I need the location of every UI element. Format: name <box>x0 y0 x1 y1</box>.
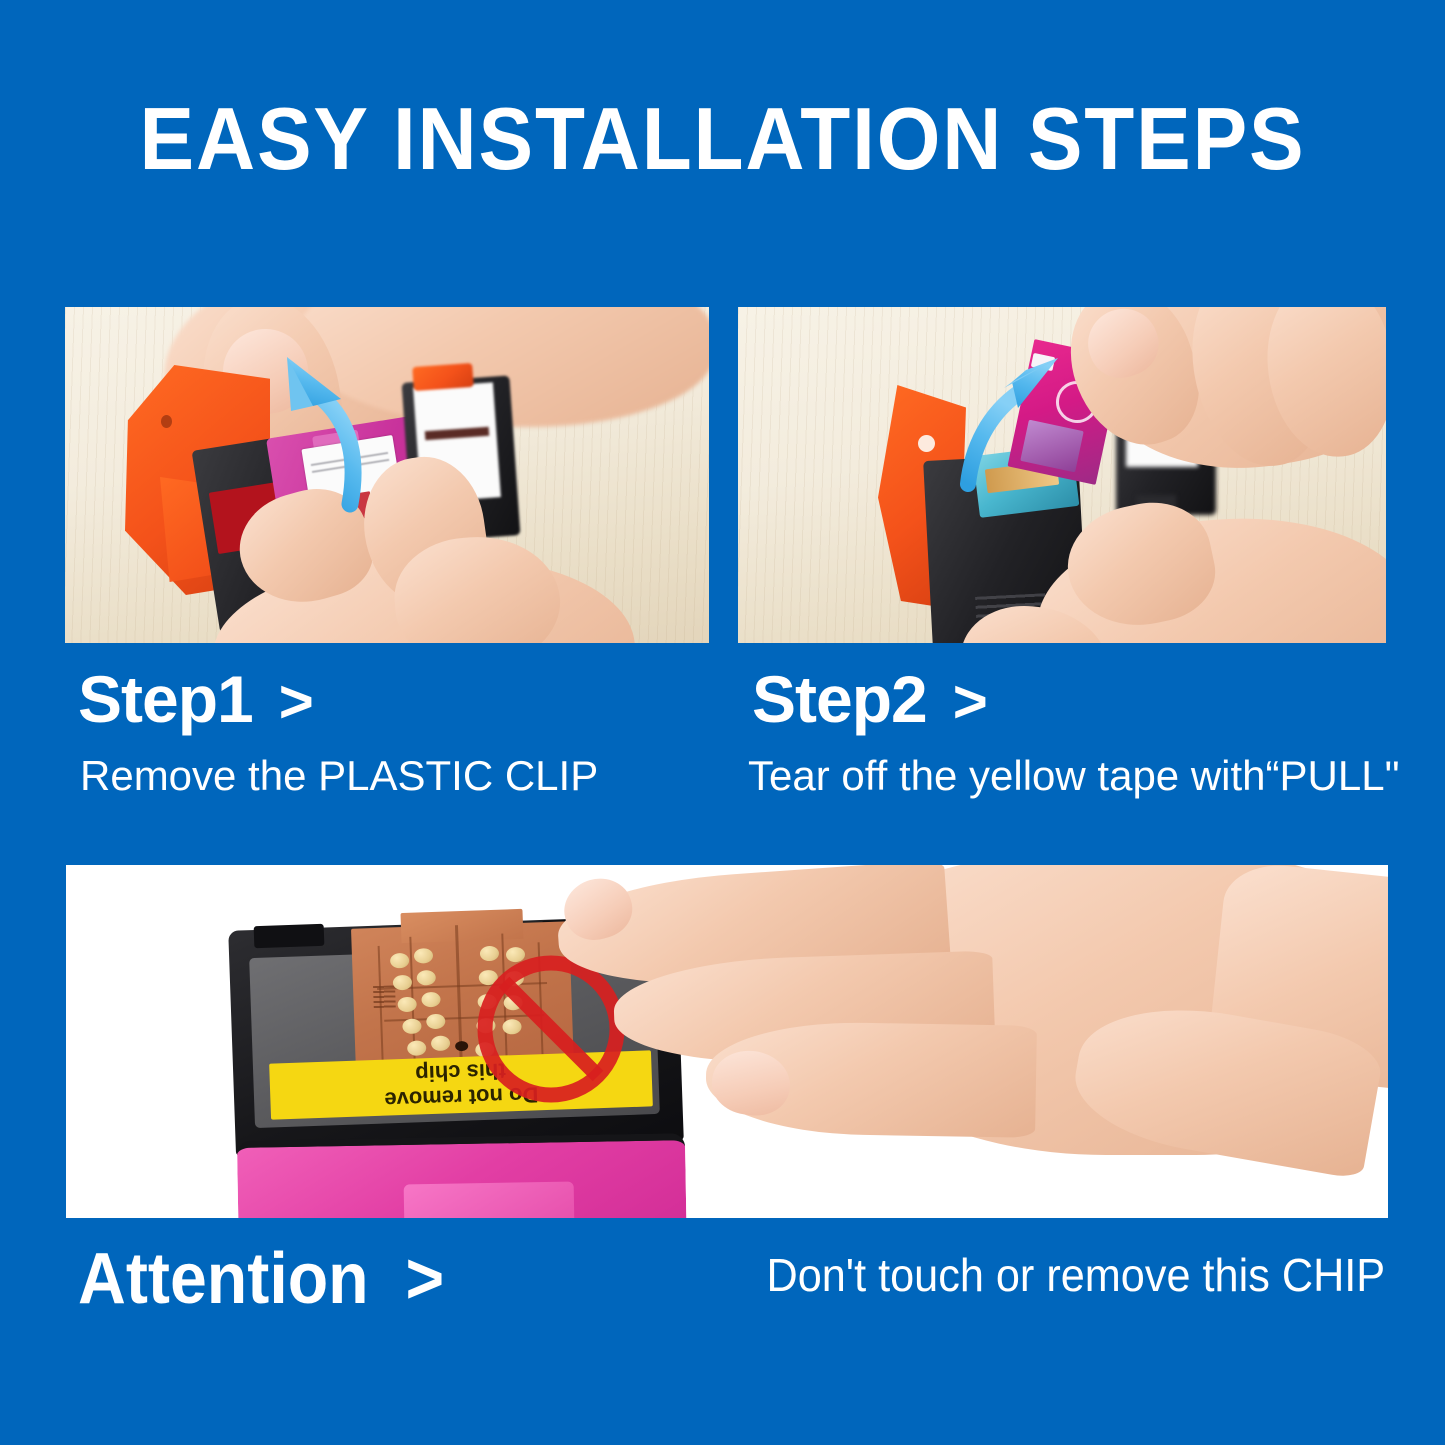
chip-pad <box>431 1035 451 1051</box>
attention-description: Don't touch or remove this CHIP <box>766 1252 1385 1298</box>
step2-heading-label: Step2 <box>752 662 927 736</box>
cartridge-notch-left <box>254 924 325 948</box>
chip-pad <box>417 970 437 986</box>
chip-trace <box>455 925 463 1075</box>
step1-description: Remove the PLASTIC CLIP <box>80 755 598 797</box>
chip-hole <box>455 1041 468 1051</box>
chip-pad <box>414 948 434 964</box>
chevron-right-icon: > <box>405 1239 444 1319</box>
step2-heading: Step2> <box>752 666 987 732</box>
attention-heading: Attention> <box>78 1243 444 1315</box>
chevron-right-icon: > <box>953 668 987 735</box>
chevron-right-icon: > <box>279 668 313 735</box>
chip-pad <box>397 997 417 1013</box>
chip-pad <box>426 1014 446 1030</box>
chip-pad <box>421 992 441 1008</box>
arrow-up-icon <box>946 352 1071 492</box>
chip-pad <box>402 1018 422 1034</box>
step1-photo <box>65 307 709 643</box>
chip-ribbon <box>400 909 523 943</box>
step1-heading: Step1> <box>78 666 313 732</box>
attention-photo: Don't remove this chip Do not remove thi… <box>66 865 1388 1218</box>
page-title: EASY INSTALLATION STEPS <box>51 95 1395 183</box>
clip-hole <box>918 435 935 452</box>
step2-description: Tear off the yellow tape with“PULL" <box>748 755 1399 797</box>
arrow-up-icon <box>255 349 385 509</box>
cartridge-black-clip <box>412 363 474 391</box>
chip-pad <box>390 953 410 969</box>
step2-photo <box>738 307 1386 643</box>
cartridge-magenta-rib <box>404 1182 575 1218</box>
clip-hole <box>161 415 172 428</box>
chip-pad <box>407 1040 427 1056</box>
attention-heading-label: Attention <box>78 1239 369 1319</box>
chip-comb-traces <box>373 985 396 1008</box>
step1-heading-label: Step1 <box>78 662 253 736</box>
